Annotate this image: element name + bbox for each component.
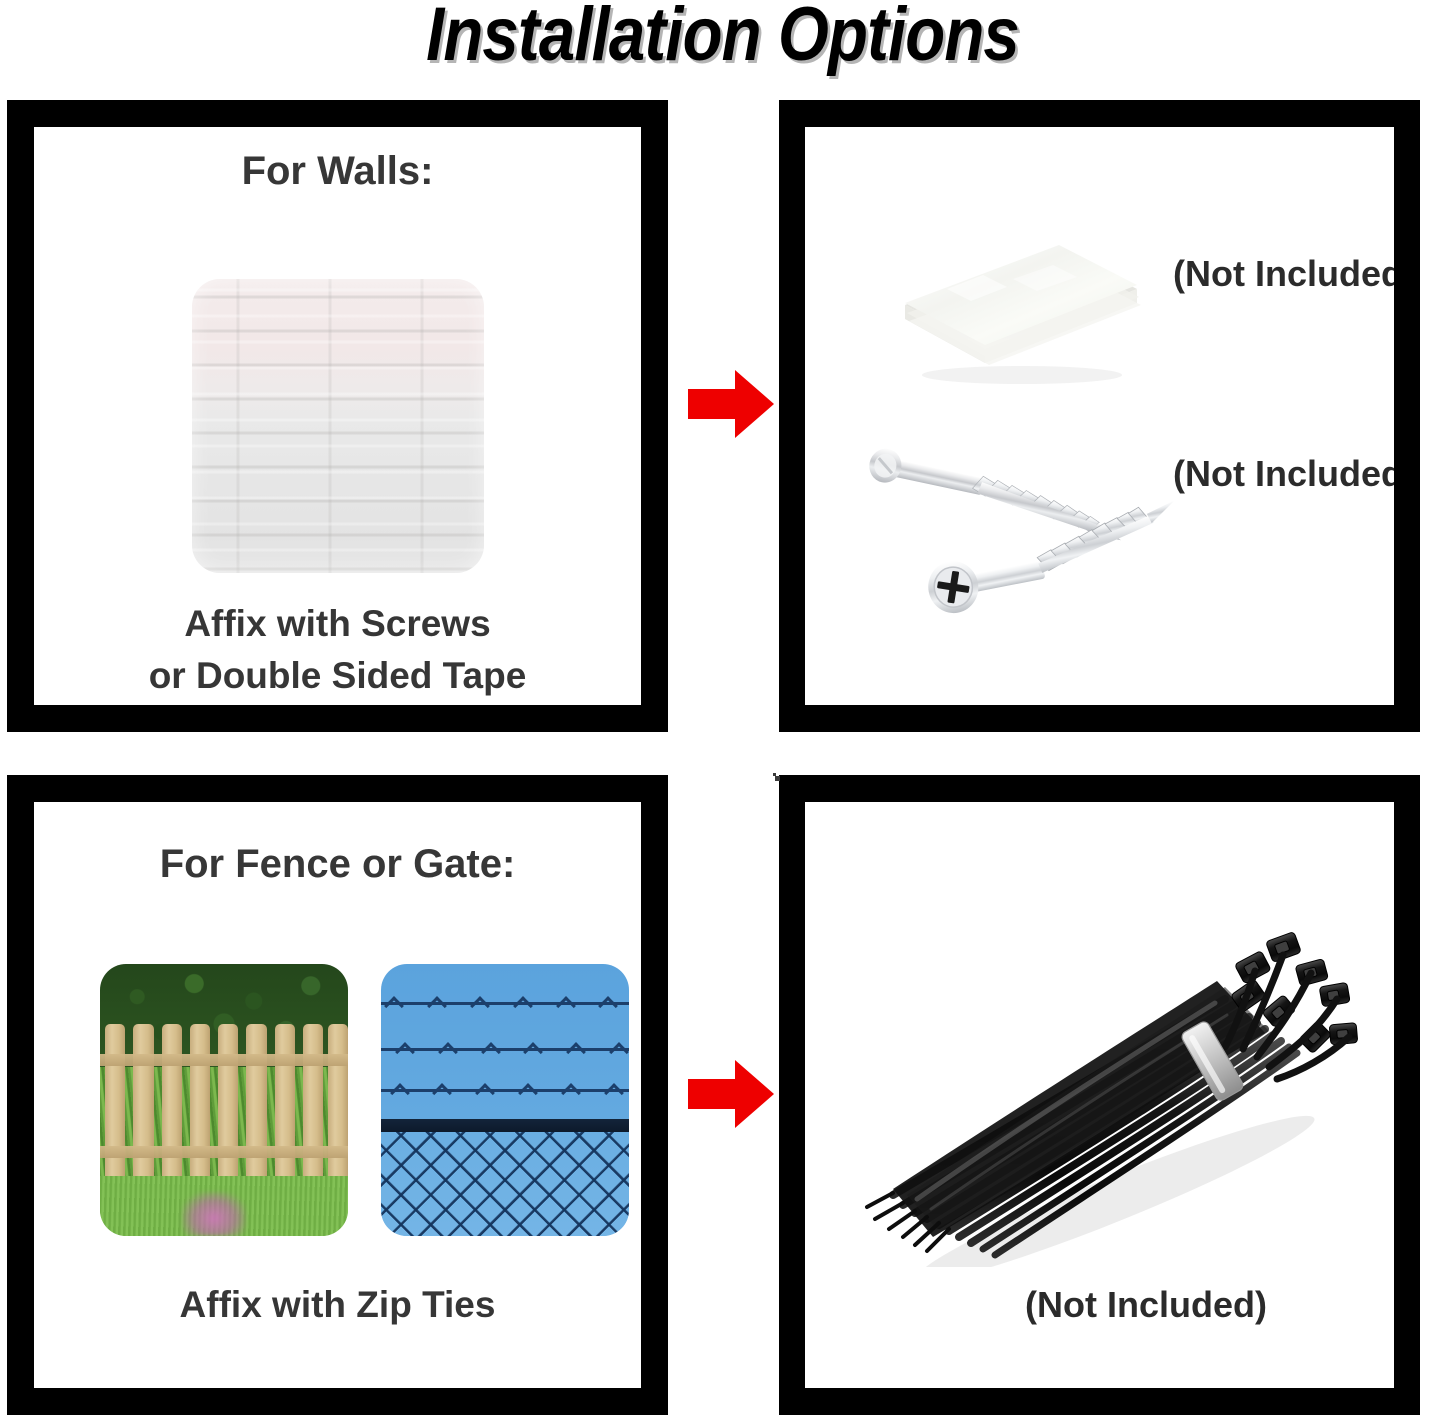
for-walls-heading: For Walls: [34,149,641,194]
wooden-picket-fence-photo [100,964,348,1236]
panel-for-walls-inner: For Walls: Affix with Screws or Double S… [34,127,641,705]
fence-caption-line-1: Affix with Zip Ties [34,1280,641,1330]
scan-artifact-speck [775,776,780,781]
panel-for-fence-or-gate: For Fence or Gate: [7,775,668,1415]
panel-wall-hardware-inner: (Not Included) [805,127,1394,705]
tape-not-included-label: (Not Included) [1173,253,1394,295]
double-sided-tape-stack-image [887,227,1155,387]
white-brick-wall-image [192,279,484,573]
silver-screws-image [841,437,1211,637]
red-right-arrow-icon-bottom [688,1058,774,1130]
chain-link-barbed-wire-fence-photo [381,964,629,1236]
panel-wall-hardware: (Not Included) [779,100,1420,732]
screws-not-included-label: (Not Included) [1173,453,1394,495]
walls-caption-line-1: Affix with Screws [34,599,641,649]
panel-fence-hardware: (Not Included) [779,775,1420,1415]
walls-caption-line-2: or Double Sided Tape [34,651,641,701]
page-title: Installation Options [101,0,1344,74]
panel-for-walls: For Walls: Affix with Screws or Double S… [7,100,668,732]
red-right-arrow-icon-top [688,368,774,440]
panel-for-fence-or-gate-inner: For Fence or Gate: [34,802,641,1388]
panel-fence-hardware-inner: (Not Included) [805,802,1394,1388]
black-zip-ties-bundle-image [845,907,1365,1267]
scan-artifact-speck-2 [773,773,776,776]
for-fence-or-gate-heading: For Fence or Gate: [34,842,641,887]
zipties-not-included-label: (Not Included) [1025,1284,1267,1326]
